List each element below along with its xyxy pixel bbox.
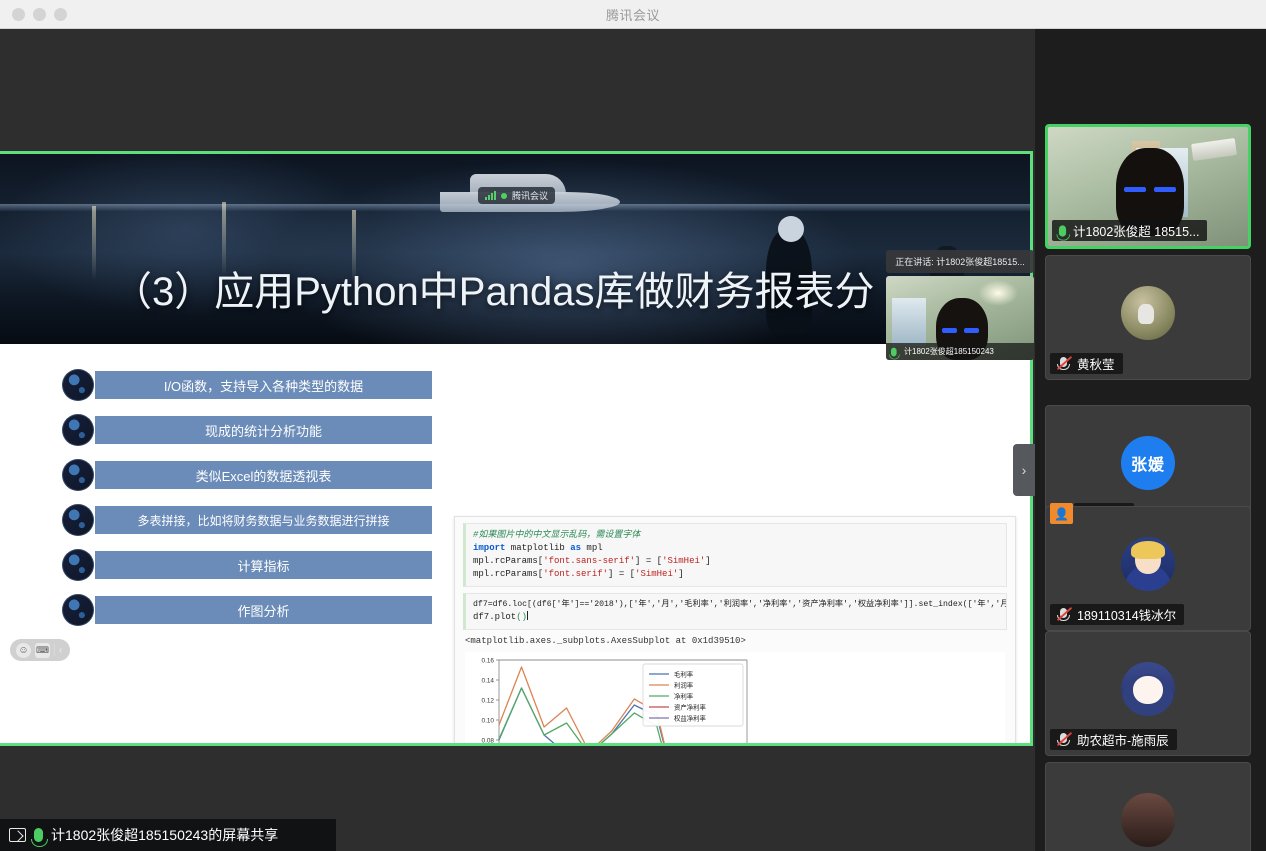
mic-on-icon (891, 347, 897, 356)
glasses-right-icon (1154, 187, 1176, 193)
code-cell-active[interactable]: df7=df6.loc[(df6['年']=='2018'),['年','月',… (463, 593, 1007, 630)
participant-tile[interactable]: 助农超市-施雨辰 (1045, 631, 1251, 756)
avatar (1121, 286, 1175, 340)
code-text: ] = [ (635, 556, 662, 566)
mic-off-icon (1056, 356, 1071, 371)
participant-name: 助农超市-施雨辰 (1077, 730, 1169, 749)
mic-off-icon (1056, 732, 1071, 747)
participant-rail[interactable]: 计1802张俊超 18515... 黄秋莹 张媛 👤 张媛 (1035, 29, 1266, 851)
bullet-label: 计算指标 (95, 551, 432, 579)
shared-content-frame: 腾讯会议 （3）应用Python中Pandas库做财务报表分 I/O函数，支持导… (0, 151, 1033, 746)
participant-name: 黄秋莹 (1077, 354, 1115, 373)
air-conditioner-decoration (1191, 138, 1237, 161)
code-keyword: import (473, 543, 505, 553)
signal-bars-icon (485, 192, 496, 200)
svg-text:0.16: 0.16 (482, 657, 495, 664)
matplotlib-chart: 0.000.020.040.060.080.100.120.140.16(201… (465, 652, 1005, 746)
text-caret (527, 611, 528, 620)
globe-bullet-icon (62, 549, 94, 581)
glasses-left-icon (942, 328, 957, 333)
meeting-window: 腾讯会议 （3）应用Python中Pandas库做财务报表分 I/O函数，支持导… (0, 29, 1266, 851)
speaking-tooltip: 正在讲话: 计1802张俊超18515... (886, 250, 1034, 273)
stage-collapse-button[interactable]: › (1013, 444, 1035, 496)
bullet-label: I/O函数，支持导入各种类型的数据 (95, 371, 432, 399)
participant-tile-active[interactable]: 计1802张俊超 18515... (1045, 124, 1251, 249)
list-item: 作图分析 (62, 594, 432, 626)
code-string: 'font.serif' (543, 569, 608, 579)
code-text: matplotlib (505, 543, 570, 553)
avatar (1121, 793, 1175, 847)
participant-tile[interactable]: 黄秋莹 (1045, 255, 1251, 380)
list-item: 现成的统计分析功能 (62, 414, 432, 446)
svg-text:净利率: 净利率 (674, 691, 694, 700)
share-badge-label: 腾讯会议 (512, 189, 548, 202)
bullet-label: 现成的统计分析功能 (95, 416, 432, 444)
window-titlebar: 腾讯会议 (0, 0, 1266, 29)
lamp-glow-decoration (92, 206, 96, 280)
code-string: 'font.sans-serif' (543, 556, 635, 566)
code-string: 'SimHei' (662, 556, 705, 566)
participant-name-chip: 黄秋莹 (1050, 353, 1123, 374)
host-badge-icon: 👤 (1050, 503, 1073, 524)
slide-body: I/O函数，支持导入各种类型的数据 现成的统计分析功能 类似Excel的数据透视… (0, 344, 1030, 743)
list-item: 类似Excel的数据透视表 (62, 459, 432, 491)
code-comment: #如果图片中的中文显示乱码，需设置字体 (473, 530, 640, 540)
avatar (1121, 537, 1175, 591)
code-text: df7.plot (473, 612, 516, 622)
window-title: 腾讯会议 (0, 5, 1266, 24)
globe-bullet-icon (62, 414, 94, 446)
avatar (1121, 662, 1175, 716)
code-text: ] (705, 556, 710, 566)
svg-text:0.10: 0.10 (482, 717, 495, 724)
code-text: df7=df6.loc[(df6['年']=='2018'),['年','月',… (473, 600, 1007, 609)
svg-text:利润率: 利润率 (674, 680, 694, 689)
room-window-decoration (892, 298, 926, 346)
bullet-label: 类似Excel的数据透视表 (95, 461, 432, 489)
participant-name-chip: 计1802张俊超 18515... (1052, 220, 1207, 241)
list-item: 计算指标 (62, 549, 432, 581)
svg-text:0.08: 0.08 (482, 737, 495, 744)
svg-text:资产净利率: 资产净利率 (674, 702, 707, 711)
globe-bullet-icon (62, 504, 94, 536)
share-status-text: 计1802张俊超185150243的屏幕共享 (51, 825, 278, 845)
ceiling-light-decoration (978, 280, 1018, 306)
share-status-bar: 计1802张俊超185150243的屏幕共享 (0, 819, 336, 851)
avatar-hair-decoration (1131, 541, 1165, 559)
svg-text:0.12: 0.12 (482, 697, 495, 704)
person-head-decoration (778, 216, 804, 242)
svg-text:权益净利率: 权益净利率 (674, 713, 707, 722)
toolbar-divider (54, 644, 55, 656)
glasses-left-icon (1124, 187, 1146, 193)
code-keyword: as (570, 543, 581, 553)
mic-off-icon (1056, 607, 1071, 622)
globe-bullet-icon (62, 594, 94, 626)
participant-tile[interactable]: 189110314钱冰尔 (1045, 506, 1251, 631)
slide-hero-image: 腾讯会议 （3）应用Python中Pandas库做财务报表分 (0, 154, 1030, 344)
floating-video-label: 计1802张俊超185150243 (886, 343, 1034, 360)
mic-on-icon (1059, 225, 1066, 236)
collapse-left-icon[interactable]: ‹ (59, 645, 62, 656)
code-text: mpl (581, 543, 603, 553)
annotation-toolbar[interactable]: ☺ ⌨ ‹ (10, 639, 70, 661)
participant-name: 计1802张俊超 18515... (1073, 221, 1199, 240)
emoji-icon[interactable]: ☺ (16, 643, 31, 658)
floating-self-video[interactable]: 计1802张俊超185150243 (886, 276, 1034, 360)
code-cell[interactable]: #如果图片中的中文显示乱码，需设置字体 import matplotlib as… (463, 523, 1007, 587)
jupyter-notebook-panel: #如果图片中的中文显示乱码，需设置字体 import matplotlib as… (454, 516, 1016, 746)
cell-output-text: <matplotlib.axes._subplots.AxesSubplot a… (465, 636, 1005, 646)
code-text: ] = [ (608, 569, 635, 579)
participant-tile-partial[interactable] (1045, 762, 1251, 851)
code-text: mpl.rcParams[ (473, 569, 543, 579)
globe-bullet-icon (62, 369, 94, 401)
code-text: mpl.rcParams[ (473, 556, 543, 566)
floating-video-name: 计1802张俊超185150243 (904, 346, 994, 357)
participant-name-chip: 189110314钱冰尔 (1050, 604, 1184, 625)
chart-legend: 毛利率利润率净利率资产净利率权益净利率 (643, 664, 743, 726)
code-parens: () (516, 612, 527, 622)
shared-screen-stage: 腾讯会议 （3）应用Python中Pandas库做财务报表分 I/O函数，支持导… (0, 29, 1035, 851)
mic-on-icon (34, 828, 43, 842)
participant-name: 189110314钱冰尔 (1077, 605, 1176, 624)
cat-face-decoration (1133, 676, 1163, 704)
keyboard-icon[interactable]: ⌨ (35, 643, 50, 658)
globe-bullet-icon (62, 459, 94, 491)
share-indicator-badge: 腾讯会议 (478, 187, 555, 204)
list-item: I/O函数，支持导入各种类型的数据 (62, 369, 432, 401)
slide-bullet-list: I/O函数，支持导入各种类型的数据 现成的统计分析功能 类似Excel的数据透视… (62, 369, 432, 639)
avatar: 张媛 (1121, 436, 1175, 490)
code-string: 'SimHei' (635, 569, 678, 579)
bullet-label: 多表拼接，比如将财务数据与业务数据进行拼接 (95, 506, 432, 534)
slide-title: （3）应用Python中Pandas库做财务报表分 (112, 259, 874, 317)
green-dot-icon (501, 193, 507, 199)
glasses-right-icon (964, 328, 979, 333)
list-item: 多表拼接，比如将财务数据与业务数据进行拼接 (62, 504, 432, 536)
svg-text:毛利率: 毛利率 (674, 669, 694, 678)
svg-text:0.14: 0.14 (482, 677, 495, 684)
code-text: ] (678, 569, 683, 579)
line-chart-svg: 0.000.020.040.060.080.100.120.140.16(201… (465, 652, 1005, 746)
bullet-label: 作图分析 (95, 596, 432, 624)
participant-name-chip: 助农超市-施雨辰 (1050, 729, 1177, 750)
screen-share-icon (9, 828, 26, 842)
